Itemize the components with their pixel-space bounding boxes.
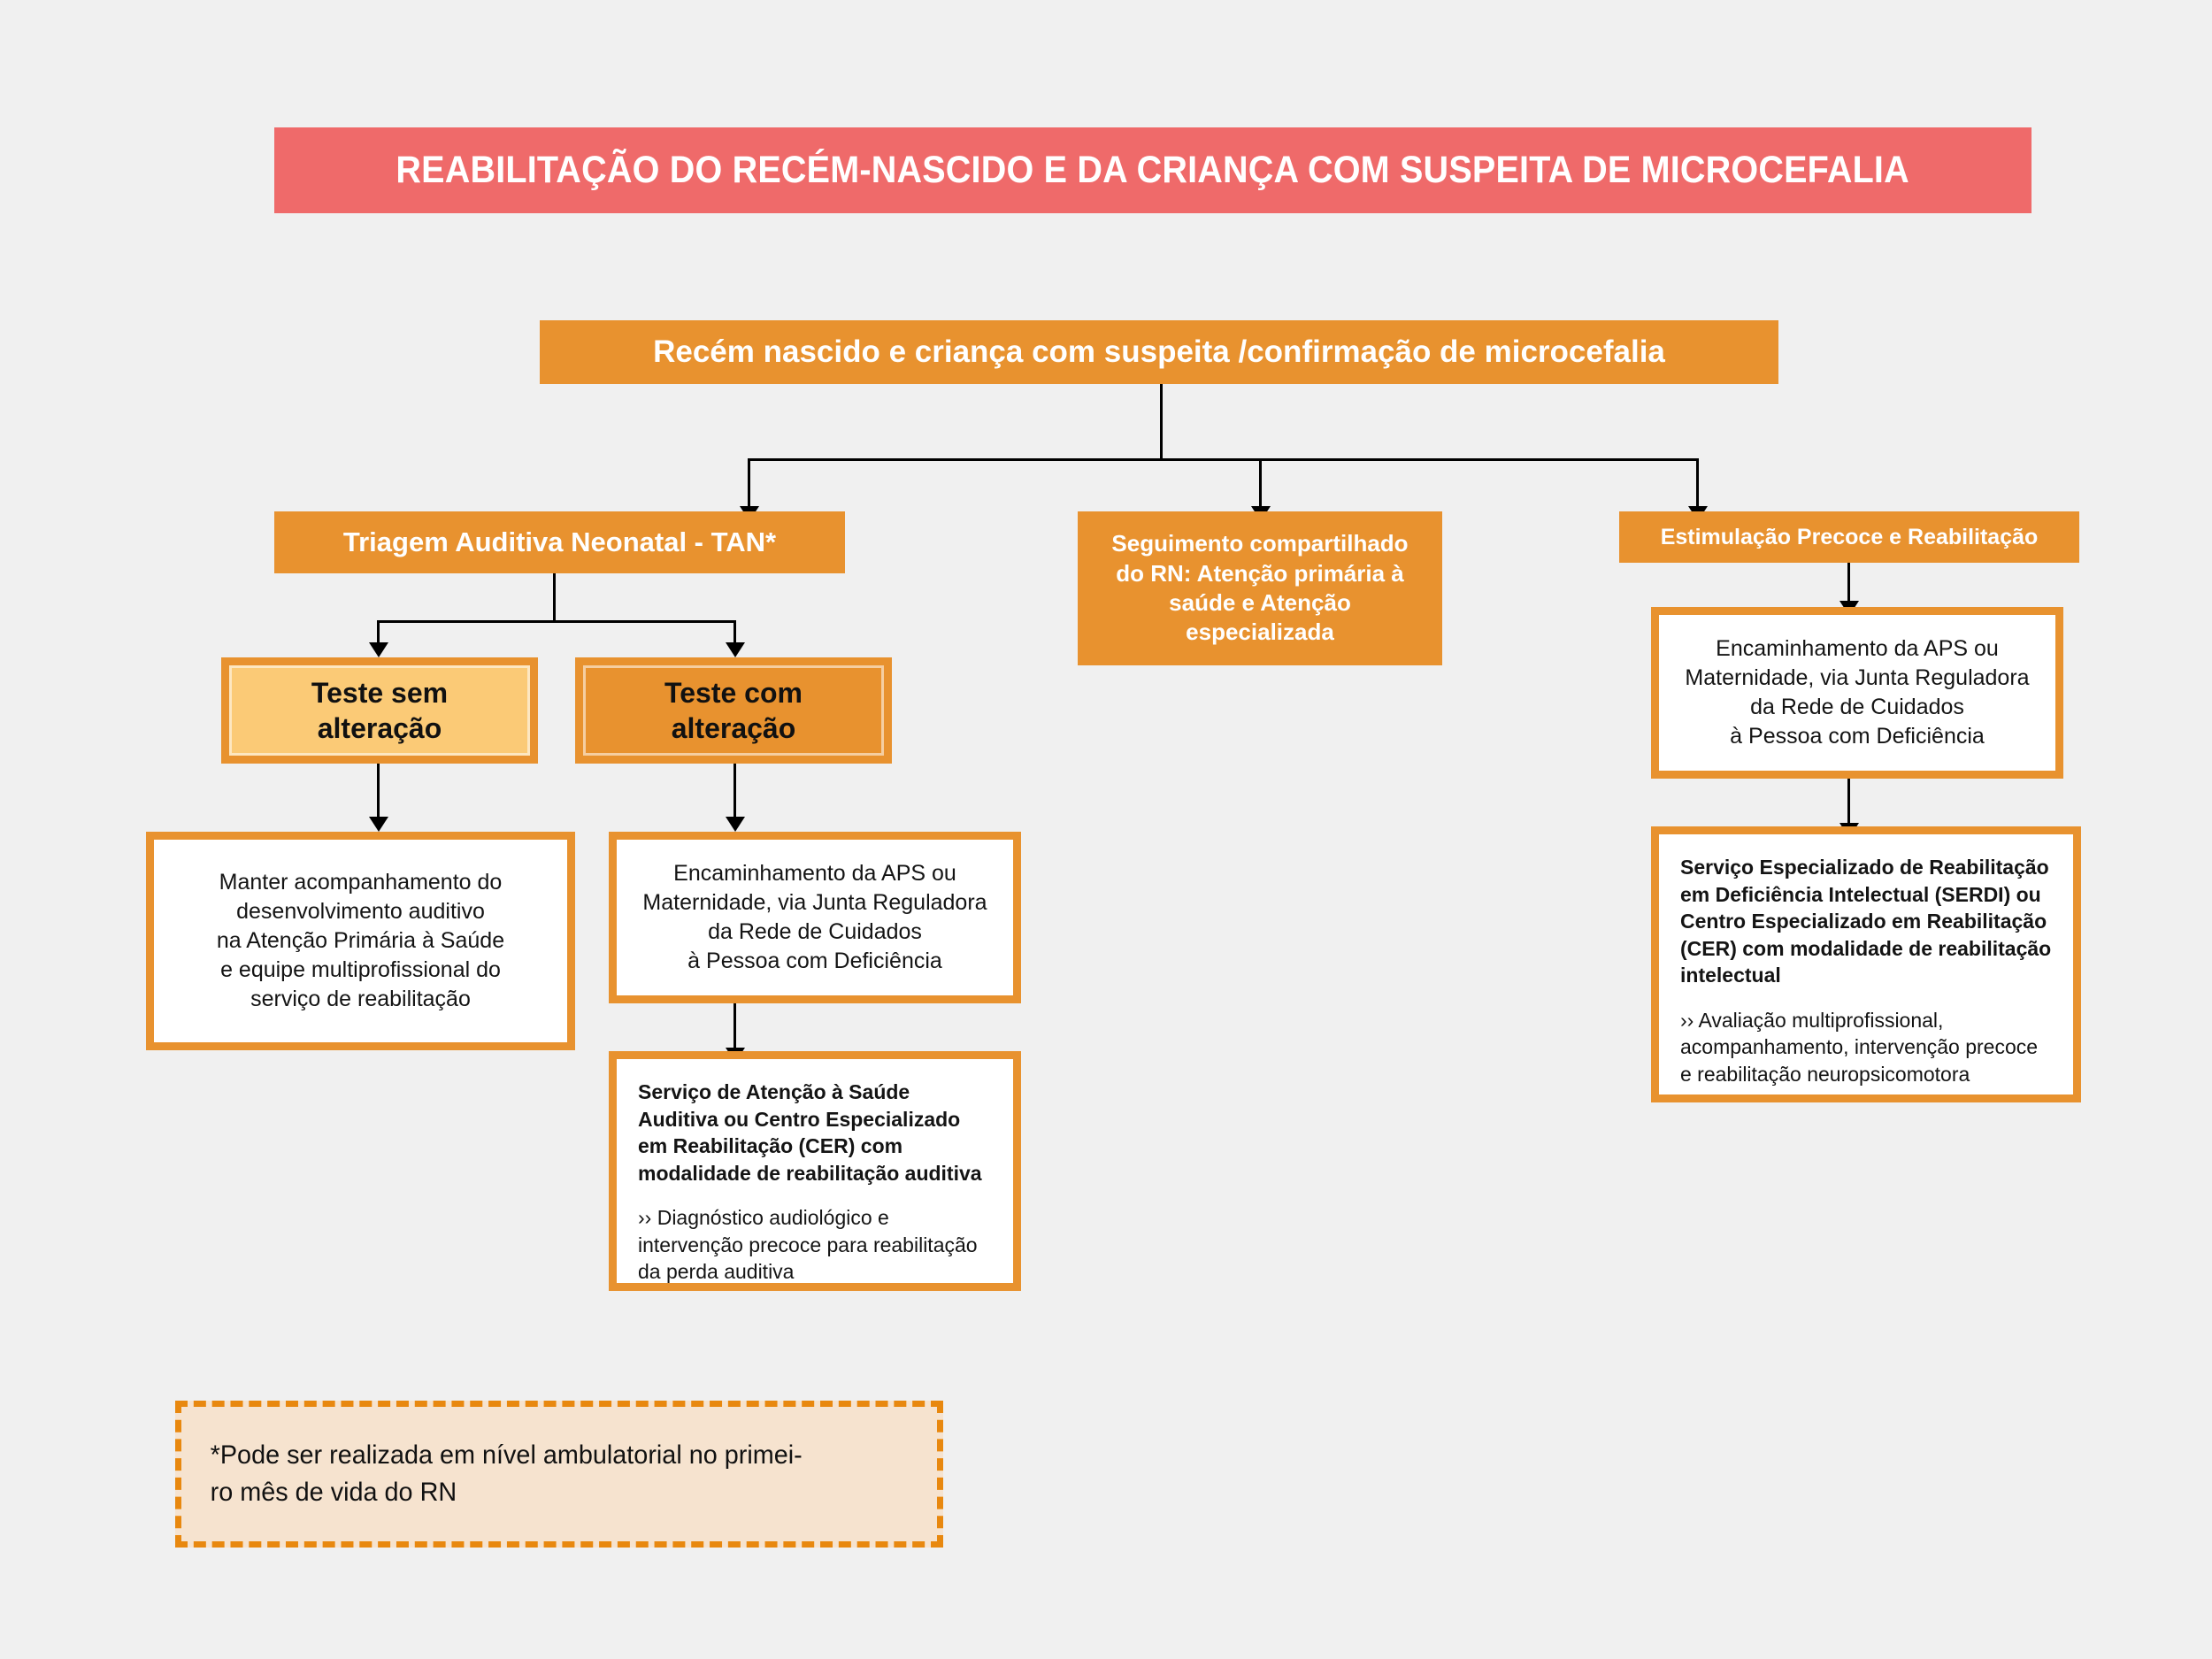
connector-to-followup bbox=[1259, 458, 1262, 511]
node-test-altered-label: Teste com alteração bbox=[664, 675, 803, 746]
node-tan-label: Triagem Auditiva Neonatal - TAN* bbox=[343, 526, 776, 558]
connector-to-stimulation bbox=[1696, 458, 1699, 511]
node-stimulation-service-note: ›› Avaliação multiprofissional, acompanh… bbox=[1680, 1007, 2054, 1088]
node-stimulation-referral-text: Encaminhamento da APS ou Maternidade, vi… bbox=[1685, 634, 2029, 751]
node-stimulation-service-heading: Serviço Especializado de Reabilitação em… bbox=[1680, 854, 2054, 989]
connector-tan-referral-down bbox=[733, 1003, 736, 1052]
page-title-banner: REABILITAÇÃO DO RECÉM-NASCIDO E DA CRIAN… bbox=[274, 127, 2032, 213]
node-test-normal-outcome: Manter acompanhamento do desenvolvimento… bbox=[146, 832, 575, 1050]
arrow-tan-left bbox=[369, 642, 388, 657]
node-root: Recém nascido e criança com suspeita /co… bbox=[540, 320, 1778, 384]
node-followup-label: Seguimento compartilhado do RN: Atenção … bbox=[1111, 529, 1408, 647]
connector-tan-stem bbox=[553, 573, 556, 622]
node-tan-service-heading: Serviço de Atenção à Saúde Auditiva ou C… bbox=[638, 1079, 994, 1187]
node-stimulation-service: Serviço Especializado de Reabilitação em… bbox=[1651, 826, 2081, 1102]
node-tan: Triagem Auditiva Neonatal - TAN* bbox=[274, 511, 845, 573]
arrow-tan-right bbox=[726, 642, 745, 657]
node-tan-service-body: Serviço de Atenção à Saúde Auditiva ou C… bbox=[617, 1059, 1013, 1294]
arrow-test-normal-down bbox=[369, 817, 388, 832]
node-stimulation-referral: Encaminhamento da APS ou Maternidade, vi… bbox=[1651, 607, 2063, 779]
connector-stimulation-referral-down bbox=[1847, 779, 1850, 827]
footnote-box: *Pode ser realizada em nível ambulatoria… bbox=[175, 1401, 943, 1548]
connector-test-normal-down bbox=[377, 764, 380, 821]
node-tan-referral-text: Encaminhamento da APS ou Maternidade, vi… bbox=[642, 859, 987, 976]
node-test-normal-label: Teste sem alteração bbox=[311, 675, 448, 746]
node-tan-referral: Encaminhamento da APS ou Maternidade, vi… bbox=[609, 832, 1021, 1003]
node-test-altered: Teste com alteração bbox=[575, 657, 892, 764]
node-stimulation-label: Estimulação Precoce e Reabilitação bbox=[1661, 525, 2039, 550]
connector-root-stem bbox=[1160, 384, 1163, 460]
node-root-label: Recém nascido e criança com suspeita /co… bbox=[653, 334, 1665, 370]
page-title: REABILITAÇÃO DO RECÉM-NASCIDO E DA CRIAN… bbox=[396, 149, 1909, 192]
connector-to-tan bbox=[748, 458, 750, 511]
connector-test-altered-down bbox=[733, 764, 736, 821]
connector-stimulation-down bbox=[1847, 563, 1850, 605]
node-tan-service: Serviço de Atenção à Saúde Auditiva ou C… bbox=[609, 1051, 1021, 1291]
node-tan-service-note: ›› Diagnóstico audiológico e intervenção… bbox=[638, 1204, 994, 1286]
connector-root-bus bbox=[748, 458, 1699, 461]
connector-tan-bus bbox=[377, 620, 733, 623]
node-test-normal: Teste sem alteração bbox=[221, 657, 538, 764]
node-test-normal-outcome-text: Manter acompanhamento do desenvolvimento… bbox=[217, 868, 504, 1014]
diagram-canvas: REABILITAÇÃO DO RECÉM-NASCIDO E DA CRIAN… bbox=[0, 0, 2212, 1659]
arrow-test-altered-down bbox=[726, 817, 745, 832]
node-stimulation: Estimulação Precoce e Reabilitação bbox=[1619, 511, 2079, 563]
footnote-text: *Pode ser realizada em nível ambulatoria… bbox=[181, 1437, 831, 1511]
node-followup: Seguimento compartilhado do RN: Atenção … bbox=[1078, 511, 1442, 665]
node-stimulation-service-body: Serviço Especializado de Reabilitação em… bbox=[1659, 834, 2073, 1097]
